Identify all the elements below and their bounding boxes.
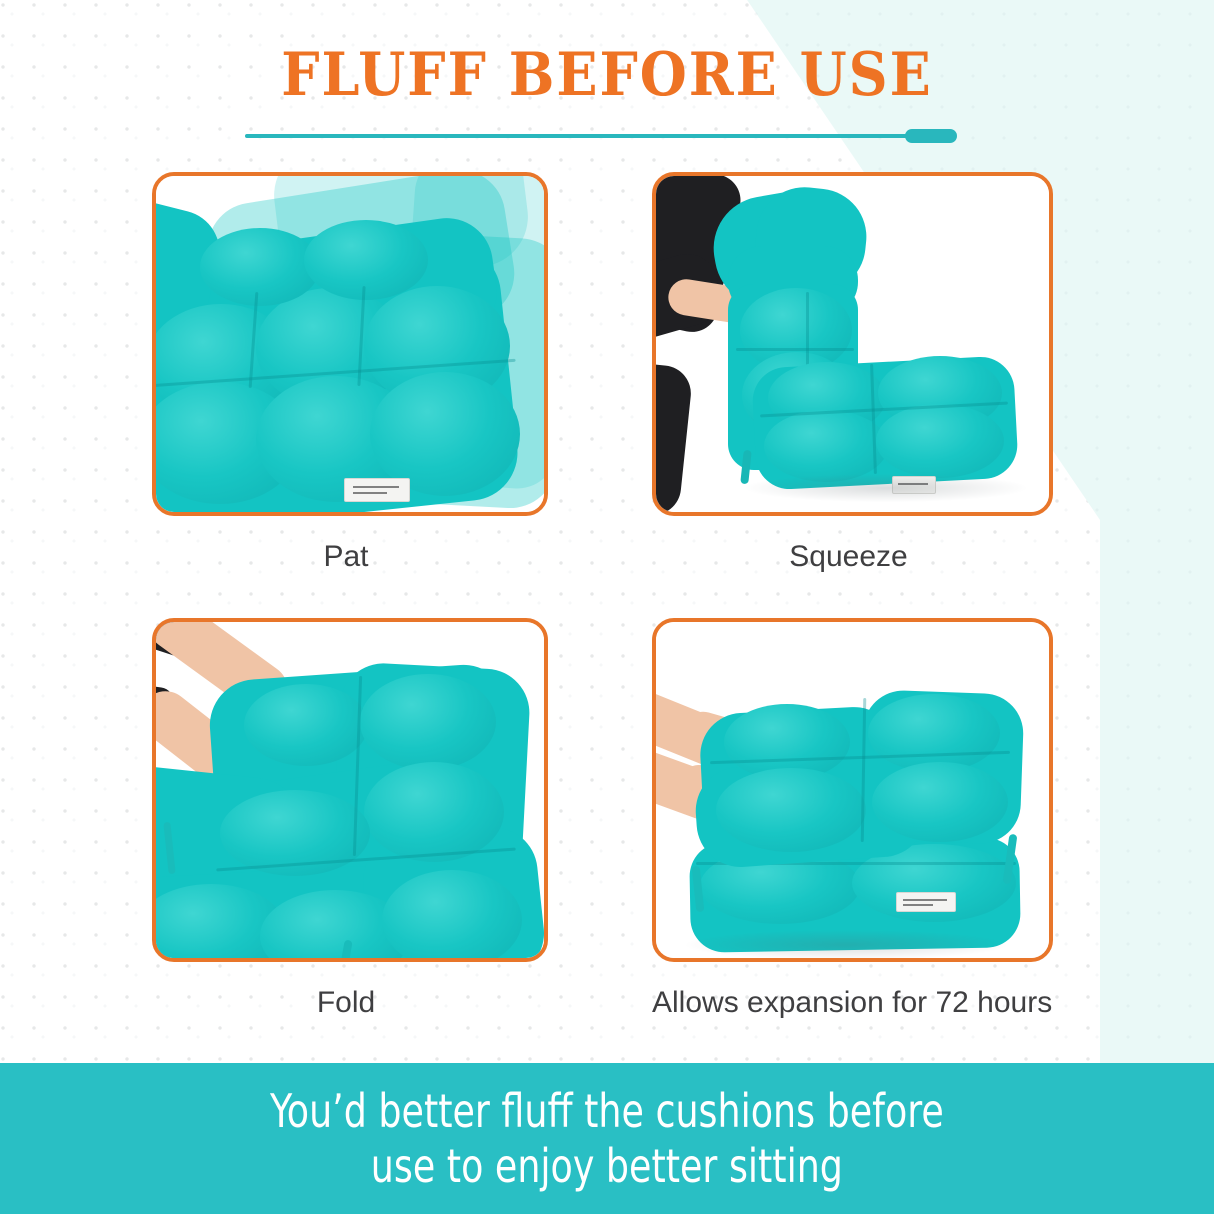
- product-tag: [896, 892, 956, 912]
- step-caption-pat: Pat: [152, 540, 540, 574]
- cushion-tuft: [868, 694, 1000, 772]
- step-caption-fold: Fold: [152, 986, 540, 1020]
- cushion-tuft: [364, 762, 504, 862]
- cushion-tuft: [716, 768, 866, 852]
- cushion-tuft: [360, 674, 496, 770]
- person-body: [656, 360, 694, 512]
- infographic-page: FLUFF BEFORE USE: [0, 0, 1214, 1214]
- page-title: FLUFF BEFORE USE: [0, 44, 1214, 106]
- cushion-tuft: [244, 684, 368, 766]
- cushion-tuft: [200, 228, 320, 306]
- header-divider: [245, 128, 957, 144]
- divider-cap: [905, 129, 957, 143]
- step-photo-fold: [156, 622, 544, 958]
- tag-text-line: [353, 492, 387, 494]
- step-caption-squeeze: Squeeze: [652, 540, 1045, 574]
- cushion-tuft: [764, 410, 888, 482]
- step-photo-expand: [656, 622, 1049, 958]
- cushion-tuft: [876, 404, 1004, 478]
- cushion-tuft: [872, 762, 1008, 842]
- step-photo-squeeze: [656, 176, 1049, 512]
- header: FLUFF BEFORE USE: [0, 44, 1214, 106]
- step-panel-fold: [152, 618, 548, 962]
- tag-text-line: [353, 486, 399, 488]
- step-photo-pat: [156, 176, 544, 512]
- drop-shadow: [686, 930, 1006, 958]
- tag-text-line: [903, 904, 933, 906]
- step-panel-squeeze: [652, 172, 1053, 516]
- step-caption-expand: Allows expansion for 72 hours: [652, 986, 1045, 1020]
- product-tag: [344, 478, 410, 502]
- step-panel-expand: [652, 618, 1053, 962]
- bottom-banner: You’d better fluff the cushions before u…: [0, 1063, 1214, 1214]
- cushion-seam: [736, 348, 854, 351]
- step-panel-pat: [152, 172, 548, 516]
- cushion-tuft: [304, 220, 428, 300]
- divider-line: [245, 134, 913, 138]
- tag-text-line: [903, 899, 947, 901]
- banner-text: You’d better fluff the cushions before u…: [270, 1084, 944, 1193]
- drop-shadow: [746, 474, 1026, 502]
